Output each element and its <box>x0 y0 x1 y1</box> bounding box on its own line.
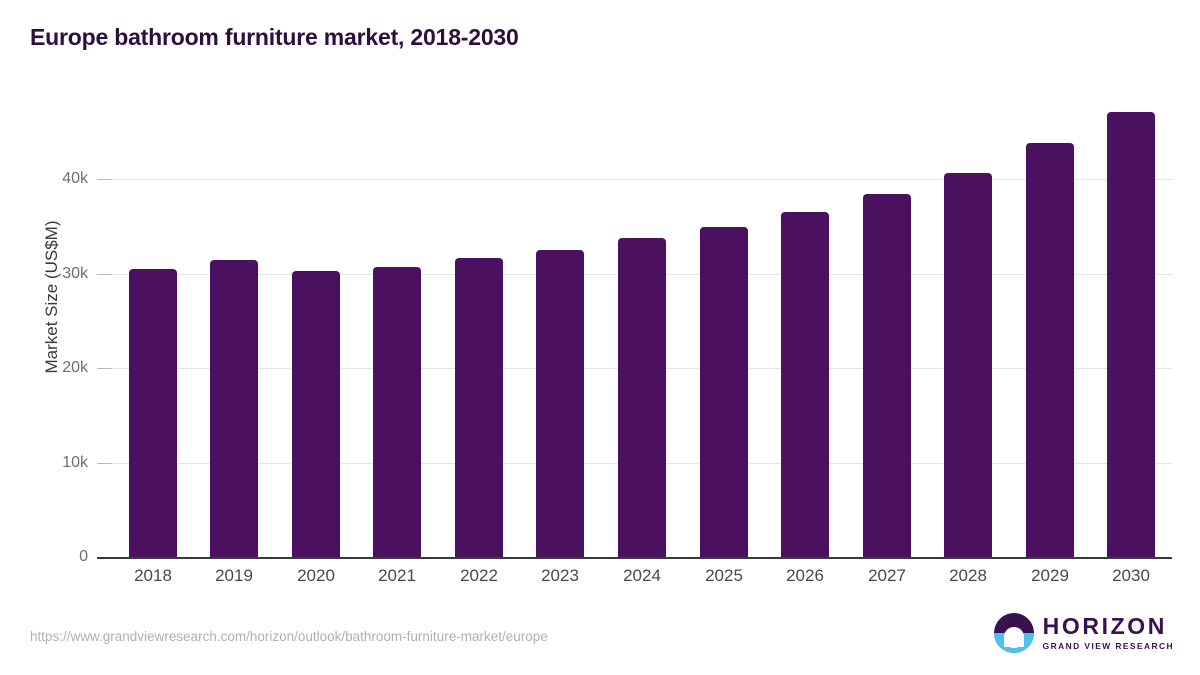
chart-page: Europe bathroom furniture market, 2018-2… <box>0 0 1200 675</box>
logo-name: HORIZON <box>1043 615 1174 638</box>
y-axis-tick-label: 10k <box>0 454 88 472</box>
y-axis-tick-label: 40k <box>0 170 88 188</box>
bar-2025[interactable] <box>700 227 748 557</box>
bar-2021[interactable] <box>373 267 421 557</box>
x-axis-tick-label-2027: 2027 <box>868 566 906 586</box>
y-axis-tick-label: 30k <box>0 265 88 283</box>
x-axis-tick-label-2026: 2026 <box>786 566 824 586</box>
gridline <box>112 179 1172 180</box>
horizon-sunset-circle-icon <box>994 613 1034 653</box>
y-axis-title: Market Size (US$M) <box>42 97 62 497</box>
bar-2028[interactable] <box>944 173 992 557</box>
y-axis-tick-label: 0 <box>0 548 88 566</box>
bar-2029[interactable] <box>1026 143 1074 557</box>
bar-2024[interactable] <box>618 238 666 557</box>
source-url[interactable]: https://www.grandviewresearch.com/horizo… <box>30 629 548 644</box>
bar-2030[interactable] <box>1107 112 1155 557</box>
y-axis-tick <box>97 463 112 464</box>
x-axis-tick-label-2025: 2025 <box>705 566 743 586</box>
x-axis-tick-label-2029: 2029 <box>1031 566 1069 586</box>
logo-ray-1 <box>1005 638 1022 640</box>
logo-ray-3 <box>1010 646 1017 648</box>
x-axis-tick-label-2021: 2021 <box>378 566 416 586</box>
x-axis-tick-label-2019: 2019 <box>215 566 253 586</box>
horizon-logo: HORIZON GRAND VIEW RESEARCH <box>994 613 1174 653</box>
bar-2022[interactable] <box>455 258 503 557</box>
chart-plot-area: Market Size (US$M) 010k20k30k40k 2018201… <box>0 0 1200 675</box>
x-axis-tick-label-2023: 2023 <box>541 566 579 586</box>
bar-2027[interactable] <box>863 194 911 557</box>
bar-2026[interactable] <box>781 212 829 557</box>
y-axis-tick <box>97 557 112 559</box>
x-axis-tick-label-2020: 2020 <box>297 566 335 586</box>
bar-2019[interactable] <box>210 260 258 557</box>
logo-ray-2 <box>1008 642 1020 644</box>
y-axis-tick <box>97 274 112 275</box>
axis-baseline <box>112 557 1172 559</box>
y-axis-tick <box>97 179 112 180</box>
x-axis-tick-label-2030: 2030 <box>1112 566 1150 586</box>
y-axis-tick <box>97 368 112 369</box>
x-axis-tick-label-2024: 2024 <box>623 566 661 586</box>
bar-2023[interactable] <box>536 250 584 557</box>
x-axis-tick-label-2022: 2022 <box>460 566 498 586</box>
x-axis-tick-label-2028: 2028 <box>949 566 987 586</box>
bar-2018[interactable] <box>129 269 177 557</box>
logo-text: HORIZON GRAND VIEW RESEARCH <box>1043 615 1174 650</box>
x-axis-tick-label-2018: 2018 <box>134 566 172 586</box>
logo-subtitle: GRAND VIEW RESEARCH <box>1043 642 1174 650</box>
bar-2020[interactable] <box>292 271 340 557</box>
y-axis-tick-label: 20k <box>0 359 88 377</box>
